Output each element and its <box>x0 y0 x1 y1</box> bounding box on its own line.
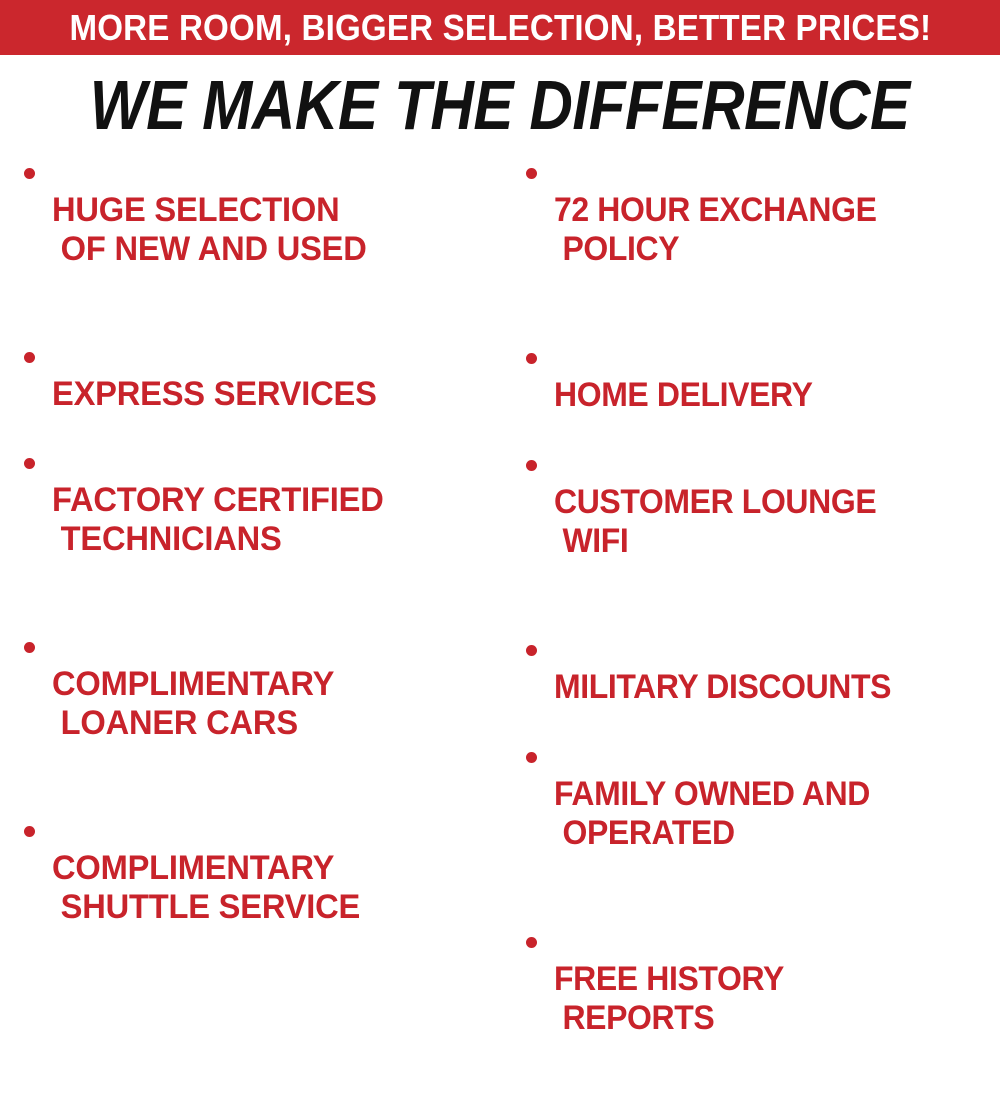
list-item-line1: FACTORY CERTIFIED <box>52 481 384 519</box>
list-item-line2: TECHNICIANS <box>52 520 482 559</box>
list-item-line1: FAMILY OWNED AND <box>554 775 870 813</box>
bullet-dot-icon <box>24 168 35 179</box>
list-item-line2: OF NEW AND USED <box>52 230 482 269</box>
headline-container: WE MAKE THE DIFFERENCE <box>0 62 1000 148</box>
promo-banner-text: MORE ROOM, BIGGER SELECTION, BETTER PRIC… <box>69 10 931 46</box>
list-item-line2: WIFI <box>554 522 973 561</box>
list-item: HOME DELIVERY <box>520 337 1000 415</box>
list-item: 72 HOUR EXCHANGE POLICY <box>520 152 1000 308</box>
list-item-label: EXPRESS SERVICES <box>52 336 482 414</box>
benefits-column-left: HUGE SELECTION OF NEW AND USED EXPRESS S… <box>0 152 500 994</box>
list-item-label: MILITARY DISCOUNTS <box>554 629 973 707</box>
list-item: MILITARY DISCOUNTS <box>520 629 1000 707</box>
list-item-line1: MILITARY DISCOUNTS <box>554 668 891 706</box>
list-item-line1: HOME DELIVERY <box>554 376 813 414</box>
bullet-dot-icon <box>24 826 35 837</box>
list-item-line2: LOANER CARS <box>52 704 482 743</box>
list-item: FAMILY OWNED AND OPERATED <box>520 736 1000 892</box>
bullet-dot-icon <box>24 458 35 469</box>
bullet-dot-icon <box>526 168 537 179</box>
bullet-dot-icon <box>24 352 35 363</box>
list-item-line1: CUSTOMER LOUNGE <box>554 483 876 521</box>
list-item-line1: FREE HISTORY <box>554 960 784 998</box>
bullet-dot-icon <box>526 353 537 364</box>
list-item-label: 72 HOUR EXCHANGE POLICY <box>554 152 973 308</box>
promo-banner: MORE ROOM, BIGGER SELECTION, BETTER PRIC… <box>0 0 1000 55</box>
list-item-label: FREE HISTORY REPORTS <box>554 921 973 1077</box>
list-item-label: COMPLIMENTARY LOANER CARS <box>52 626 482 782</box>
list-item-label: COMPLIMENTARY SHUTTLE SERVICE <box>52 810 482 966</box>
list-item-label: HOME DELIVERY <box>554 337 973 415</box>
list-item: FREE HISTORY REPORTS <box>520 921 1000 1077</box>
page-title: WE MAKE THE DIFFERENCE <box>90 70 910 140</box>
list-item-label: FACTORY CERTIFIED TECHNICIANS <box>52 442 482 598</box>
bullet-dot-icon <box>526 752 537 763</box>
list-item-line2: SHUTTLE SERVICE <box>52 888 482 927</box>
bullet-dot-icon <box>526 645 537 656</box>
list-item-label: HUGE SELECTION OF NEW AND USED <box>52 152 482 308</box>
bullet-dot-icon <box>24 642 35 653</box>
list-item-line2: OPERATED <box>554 814 973 853</box>
list-item-line1: EXPRESS SERVICES <box>52 375 377 413</box>
list-item: HUGE SELECTION OF NEW AND USED <box>18 152 500 308</box>
list-item-line2: REPORTS <box>554 999 973 1038</box>
bullet-dot-icon <box>526 937 537 948</box>
list-item-line1: COMPLIMENTARY <box>52 665 334 703</box>
list-item-line2: POLICY <box>554 230 973 269</box>
list-item-line1: HUGE SELECTION <box>52 191 339 229</box>
list-item-label: CUSTOMER LOUNGE WIFI <box>554 444 973 600</box>
list-item: CUSTOMER LOUNGE WIFI <box>520 444 1000 600</box>
list-item-line1: COMPLIMENTARY <box>52 849 334 887</box>
list-item: COMPLIMENTARY SHUTTLE SERVICE <box>18 810 500 966</box>
list-item-label: FAMILY OWNED AND OPERATED <box>554 736 973 892</box>
benefits-columns: HUGE SELECTION OF NEW AND USED EXPRESS S… <box>0 152 1000 694</box>
list-item: FACTORY CERTIFIED TECHNICIANS <box>18 442 500 598</box>
bullet-dot-icon <box>526 460 537 471</box>
benefits-column-right: 72 HOUR EXCHANGE POLICY HOME DELIVERY CU… <box>500 152 1000 1106</box>
list-item: EXPRESS SERVICES <box>18 336 500 414</box>
list-item-line1: 72 HOUR EXCHANGE <box>554 191 877 229</box>
list-item: COMPLIMENTARY LOANER CARS <box>18 626 500 782</box>
